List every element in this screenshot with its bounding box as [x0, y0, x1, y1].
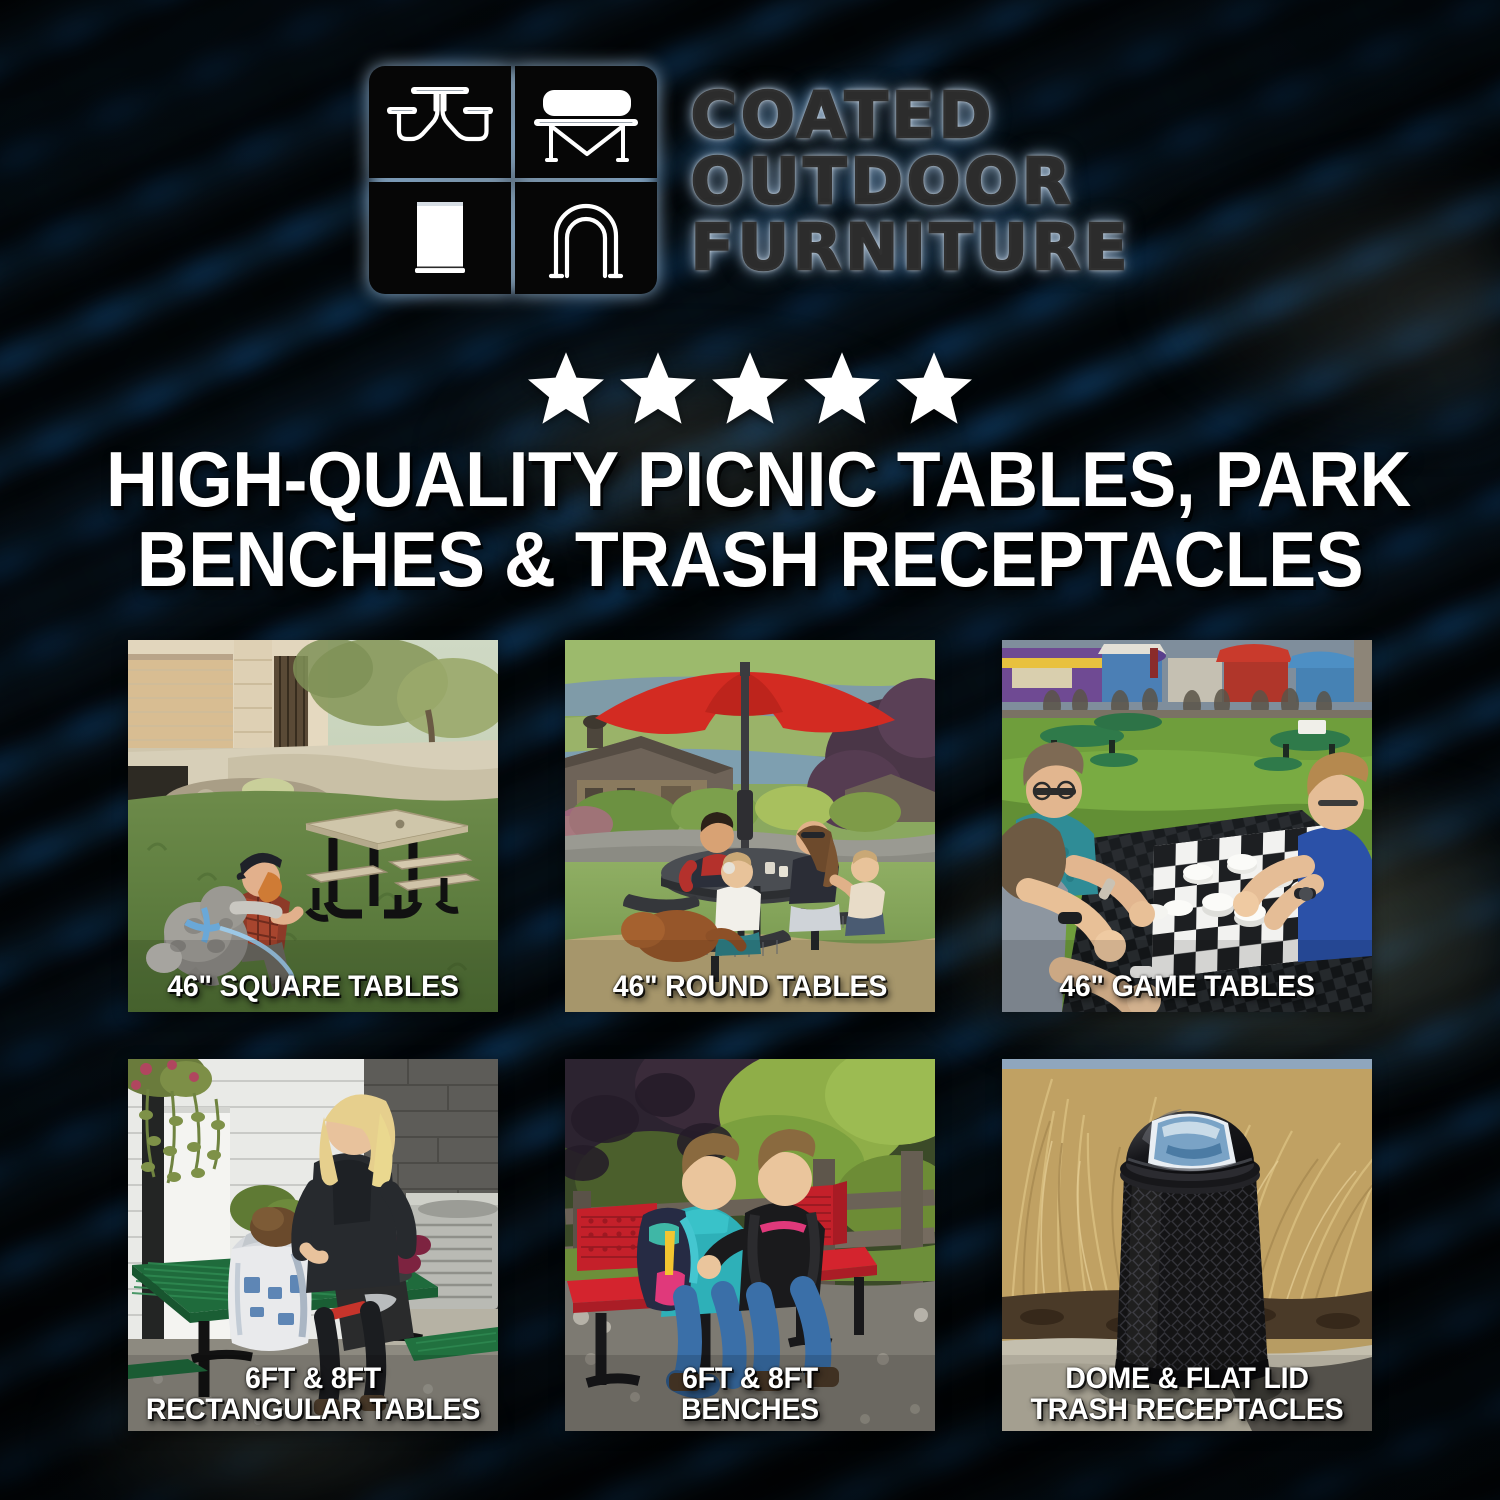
- tile-caption: 46" SQUARE TABLES: [137, 971, 489, 1002]
- tile-caption-line-2: TRASH RECEPTACLES: [1017, 1394, 1357, 1425]
- tile-caption-line-2: BENCHES: [580, 1394, 920, 1425]
- product-tile-rectangular-tables[interactable]: 6FT & 8FT RECTANGULAR TABLES: [128, 1059, 498, 1431]
- tile-caption: DOME & FLAT LID TRASH RECEPTACLES: [1011, 1363, 1363, 1425]
- page-headline: HIGH-QUALITY PICNIC TABLES, PARK BENCHES…: [106, 440, 1394, 599]
- square-table-photo: [128, 640, 498, 1012]
- tile-caption-line-1: 6FT & 8FT: [580, 1363, 920, 1394]
- brand-word-line-3: FURNITURE: [691, 216, 1132, 280]
- tile-caption-line-1: 46" GAME TABLES: [1017, 971, 1357, 1002]
- star-icon: [528, 352, 604, 424]
- tile-caption-line-1: DOME & FLAT LID: [1017, 1363, 1357, 1394]
- tile-caption: 46" ROUND TABLES: [574, 971, 926, 1002]
- bike-rack-icon: [515, 182, 657, 294]
- headline-line-1: HIGH-QUALITY PICNIC TABLES, PARK: [106, 440, 1394, 520]
- trash-receptacle-icon: [369, 182, 511, 294]
- brand-wordmark: COATED OUTDOOR FURNITURE: [691, 80, 1132, 281]
- tile-caption-line-2: RECTANGULAR TABLES: [143, 1394, 483, 1425]
- park-bench-icon: [515, 66, 657, 178]
- tile-caption: 6FT & 8FT BENCHES: [574, 1363, 926, 1425]
- brand-word-line-2: OUTDOOR: [691, 150, 1132, 214]
- product-tile-grid: 46" SQUARE TABLES: [128, 640, 1372, 1431]
- product-tile-benches[interactable]: 6FT & 8FT BENCHES: [565, 1059, 935, 1431]
- product-tile-game-tables[interactable]: 46" GAME TABLES: [1002, 640, 1372, 1012]
- brand-word-line-1: COATED: [691, 84, 1132, 148]
- star-rating: [0, 352, 1500, 424]
- game-table-photo: [1002, 640, 1372, 1012]
- tile-caption: 46" GAME TABLES: [1011, 971, 1363, 1002]
- brand-logo: COATED OUTDOOR FURNITURE: [0, 66, 1500, 294]
- tile-caption: 6FT & 8FT RECTANGULAR TABLES: [137, 1363, 489, 1425]
- picnic-table-icon: [369, 66, 511, 178]
- tile-caption-line-1: 46" ROUND TABLES: [580, 971, 920, 1002]
- logo-icon-grid: [369, 66, 657, 294]
- round-table-photo: [565, 640, 935, 1012]
- headline-line-2: BENCHES & TRASH RECEPTACLES: [106, 520, 1394, 600]
- star-icon: [804, 352, 880, 424]
- product-tile-round-tables[interactable]: 46" ROUND TABLES: [565, 640, 935, 1012]
- star-icon: [712, 352, 788, 424]
- star-icon: [620, 352, 696, 424]
- product-tile-trash-receptacles[interactable]: DOME & FLAT LID TRASH RECEPTACLES: [1002, 1059, 1372, 1431]
- star-icon: [896, 352, 972, 424]
- product-tile-square-tables[interactable]: 46" SQUARE TABLES: [128, 640, 498, 1012]
- tile-caption-line-1: 6FT & 8FT: [143, 1363, 483, 1394]
- tile-caption-line-1: 46" SQUARE TABLES: [143, 971, 483, 1002]
